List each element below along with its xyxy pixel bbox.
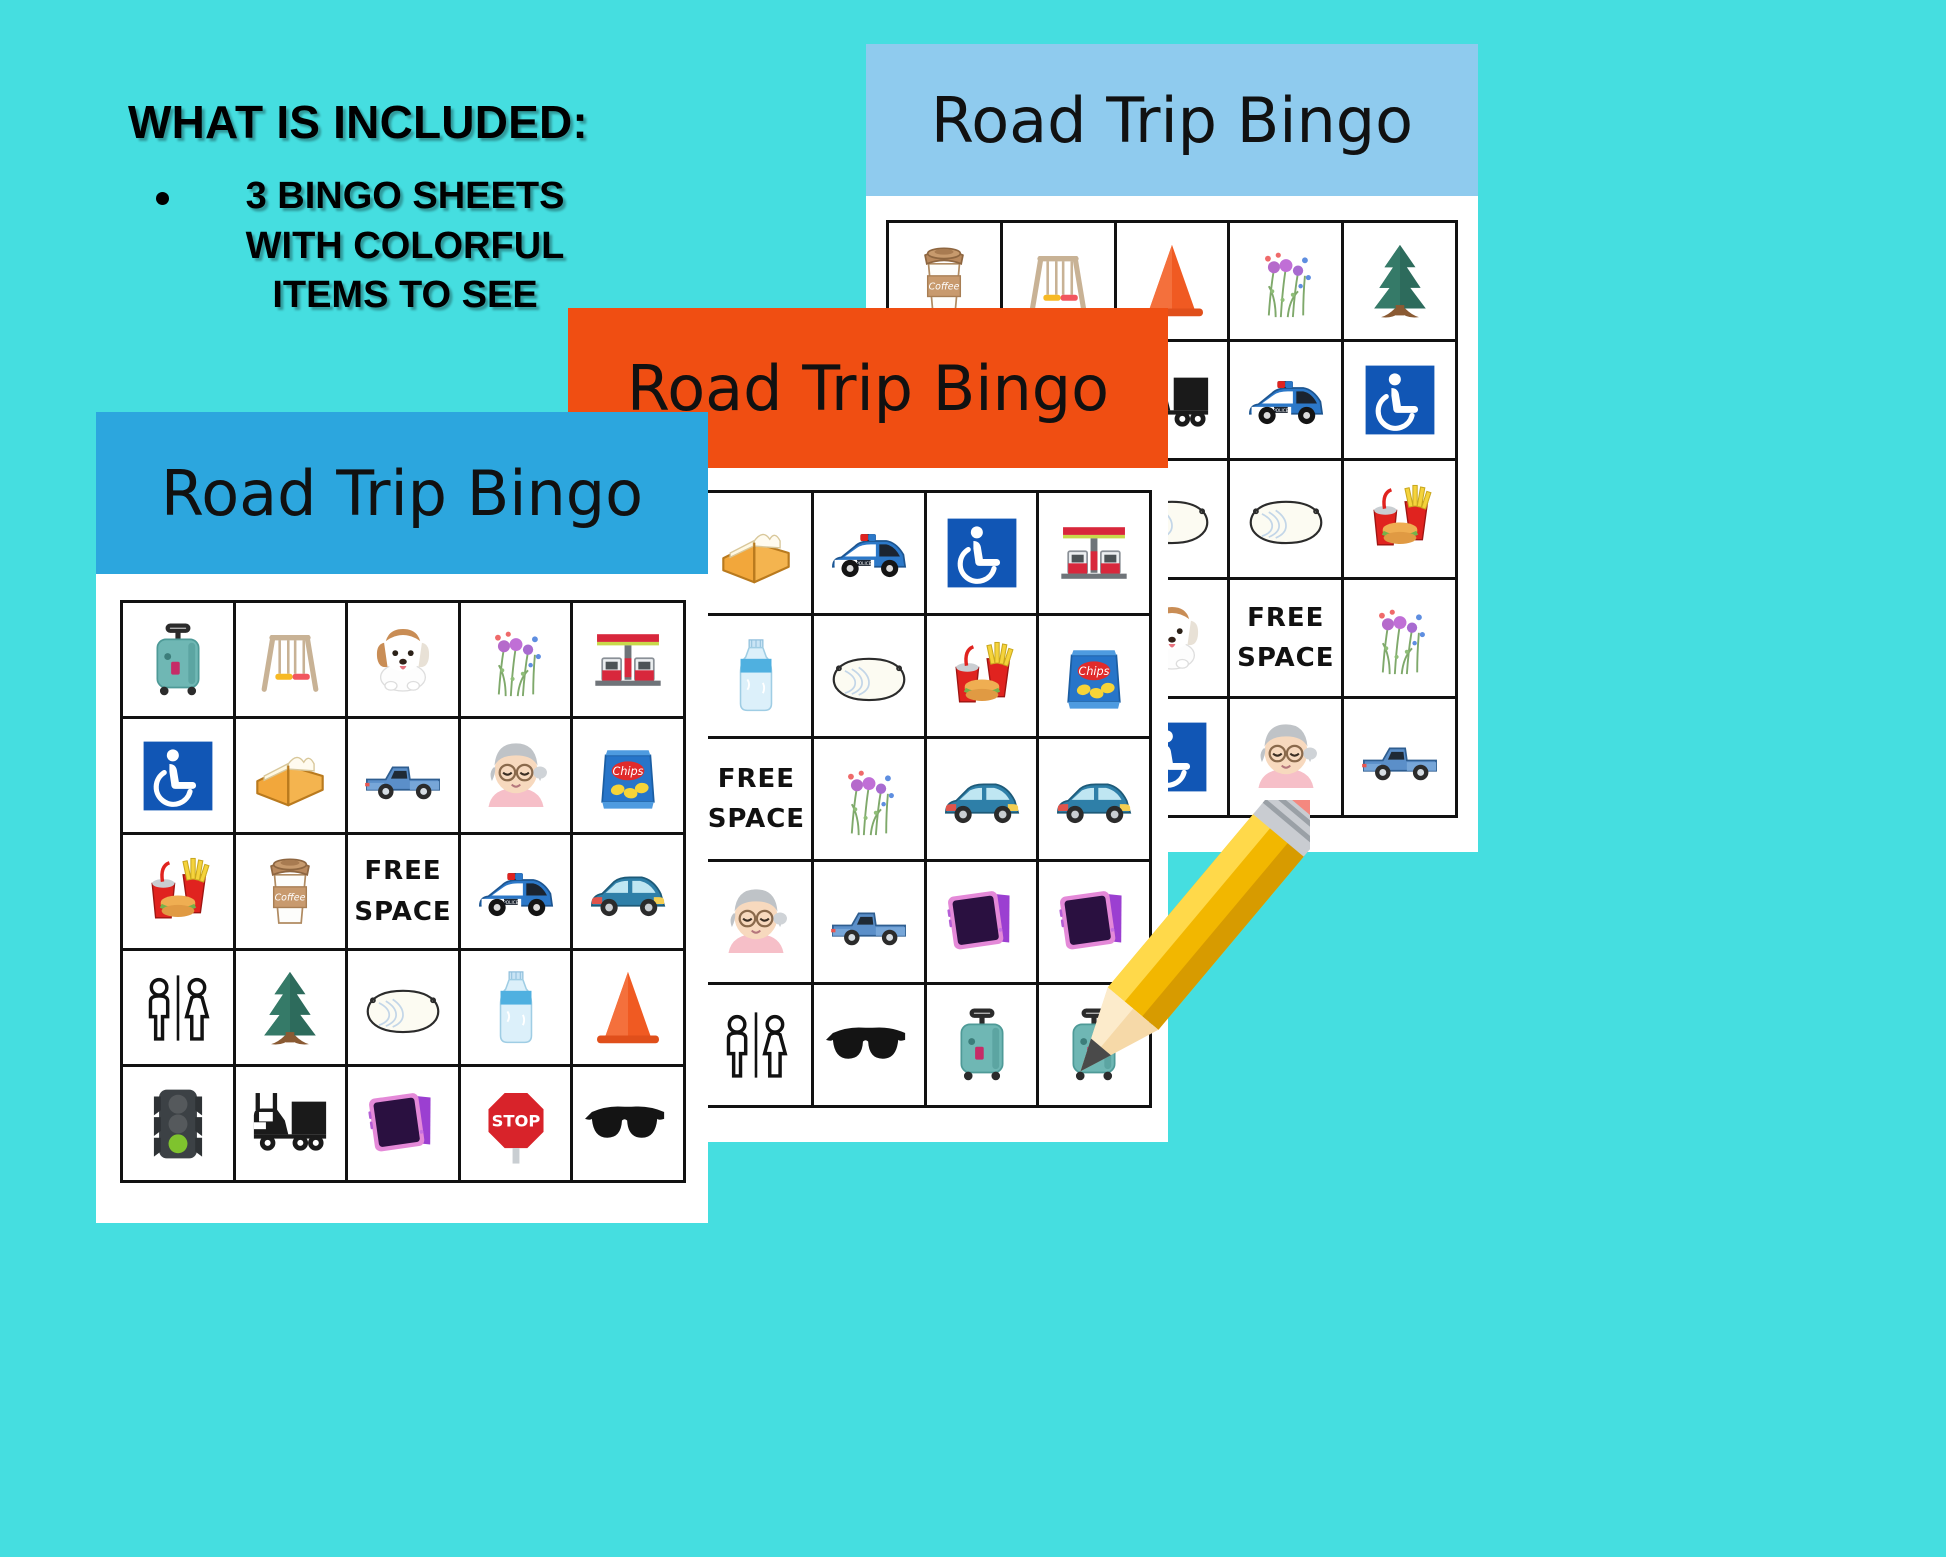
bingo-cell-pillow[interactable] [348, 951, 461, 1067]
pickup-truck-icon [360, 733, 446, 819]
poster-canvas: WHAT IS INCLUDED: 3 BINGO SHEETS WITH CO… [0, 0, 1946, 1557]
police-car-icon: POLICE [826, 510, 912, 596]
promo-bullet-line-3: ITEMS TO SEE [272, 274, 537, 316]
bingo-cell-free-space[interactable]: FREESPACE [702, 739, 815, 862]
bingo-cell-free-space[interactable]: FREESPACE [1230, 580, 1344, 699]
bingo-cell-puppy[interactable] [348, 603, 461, 719]
card-grid-wrap: Chips Coffee FREESPACE POLICE [96, 574, 708, 1223]
bingo-cell-water-bottle[interactable] [702, 616, 815, 739]
svg-text:Coffee: Coffee [275, 892, 306, 903]
bingo-cell-free-space[interactable]: FREESPACE [348, 835, 461, 951]
wheelchair-sign-icon [1357, 357, 1443, 443]
bingo-cell-gas-station[interactable] [573, 603, 686, 719]
bingo-cell-fast-food[interactable] [123, 835, 236, 951]
tablet-icon [360, 1081, 446, 1167]
traffic-cone-icon [585, 965, 671, 1051]
bingo-cell-chips-bag[interactable]: Chips [1039, 616, 1152, 739]
bingo-cell-wildflowers[interactable] [1230, 223, 1344, 342]
wheelchair-sign-icon [135, 733, 221, 819]
bingo-cell-wildflowers[interactable] [461, 603, 574, 719]
grandma-icon [713, 879, 799, 965]
bingo-cell-police-car[interactable]: POLICE [814, 493, 927, 616]
card-banner: Road Trip Bingo [96, 412, 708, 574]
bingo-cell-tablet[interactable] [348, 1067, 461, 1183]
bingo-cell-pickup-truck[interactable] [1344, 699, 1458, 818]
bingo-cell-gas-station[interactable] [1039, 493, 1152, 616]
pillow-icon [360, 965, 446, 1051]
bingo-cell-pine-tree[interactable] [1344, 223, 1458, 342]
fast-food-icon [135, 849, 221, 935]
bingo-cell-traffic-light[interactable] [123, 1067, 236, 1183]
card-title: Road Trip Bingo [931, 84, 1413, 157]
bingo-cell-pickup-truck[interactable] [348, 719, 461, 835]
bingo-cell-police-car[interactable]: POLICE [461, 835, 574, 951]
svg-text:POLICE: POLICE [856, 561, 872, 567]
bingo-cell-pickup-truck[interactable] [814, 862, 927, 985]
fast-food-icon [1357, 476, 1443, 562]
stop-sign-icon: STOP [473, 1081, 559, 1167]
svg-text:Chips: Chips [613, 765, 644, 778]
sedan-car-icon [585, 849, 671, 935]
bingo-cell-open-book[interactable] [236, 719, 349, 835]
svg-text:Coffee: Coffee [929, 282, 960, 293]
open-book-icon [713, 510, 799, 596]
sedan-car-icon [939, 756, 1025, 842]
bingo-card-front: Road Trip Bingo [96, 412, 708, 1223]
bingo-cell-suitcase[interactable] [1039, 985, 1152, 1108]
grandma-icon [1243, 714, 1329, 800]
card-banner: Road Trip Bingo [866, 44, 1478, 196]
bingo-cell-sedan-car[interactable] [927, 739, 1040, 862]
bingo-cell-pillow[interactable] [1230, 461, 1344, 580]
sunglasses-icon [826, 1002, 912, 1088]
pickup-truck-icon [826, 879, 912, 965]
chips-bag-icon: Chips [1051, 633, 1137, 719]
wildflowers-icon [1243, 238, 1329, 324]
tablet-icon [939, 879, 1025, 965]
bingo-cell-wheelchair-sign[interactable] [123, 719, 236, 835]
bingo-cell-stop-sign[interactable]: STOP [461, 1067, 574, 1183]
grandma-icon [473, 733, 559, 819]
bingo-cell-wildflowers[interactable] [1344, 580, 1458, 699]
wildflowers-icon [473, 617, 559, 703]
sunglasses-icon [585, 1081, 671, 1167]
tablet-icon [1051, 879, 1137, 965]
pillow-icon [826, 633, 912, 719]
bingo-cell-coffee-cup[interactable]: Coffee [236, 835, 349, 951]
promo-bullet-list: 3 BINGO SHEETS WITH COLORFUL ITEMS TO SE… [128, 172, 768, 320]
open-book-icon [247, 733, 333, 819]
free-space-label: FREESPACE [354, 851, 451, 932]
bingo-cell-fast-food[interactable] [1344, 461, 1458, 580]
bingo-cell-sunglasses[interactable] [814, 985, 927, 1108]
bingo-cell-sunglasses[interactable] [573, 1067, 686, 1183]
bingo-cell-tablet[interactable] [1039, 862, 1152, 985]
bingo-cell-restroom-sign[interactable] [702, 985, 815, 1108]
pine-tree-icon [247, 965, 333, 1051]
bingo-cell-water-bottle[interactable] [461, 951, 574, 1067]
pillow-icon [1243, 476, 1329, 562]
bingo-cell-semi-truck[interactable] [236, 1067, 349, 1183]
puppy-icon [360, 617, 446, 703]
card-title: Road Trip Bingo [161, 457, 643, 530]
promo-bullet-line-2: WITH COLORFUL [246, 225, 565, 267]
bingo-cell-wildflowers[interactable] [814, 739, 927, 862]
promo-text-block: WHAT IS INCLUDED: 3 BINGO SHEETS WITH CO… [128, 98, 768, 320]
bingo-cell-pillow[interactable] [814, 616, 927, 739]
promo-heading: WHAT IS INCLUDED: [128, 98, 768, 146]
bingo-cell-tablet[interactable] [927, 862, 1040, 985]
pine-tree-icon [1357, 238, 1443, 324]
wildflowers-icon [1357, 595, 1443, 681]
coffee-cup-icon: Coffee [247, 849, 333, 935]
bingo-cell-grandma[interactable] [1230, 699, 1344, 818]
bingo-cell-chips-bag[interactable]: Chips [573, 719, 686, 835]
gas-station-icon [1051, 510, 1137, 596]
bingo-cell-grandma[interactable] [461, 719, 574, 835]
bingo-cell-traffic-cone[interactable] [573, 951, 686, 1067]
police-car-icon: POLICE [473, 849, 559, 935]
restroom-sign-icon [713, 1002, 799, 1088]
water-bottle-icon [473, 965, 559, 1051]
fast-food-icon [939, 633, 1025, 719]
suitcase-icon [939, 1002, 1025, 1088]
svg-text:POLICE: POLICE [1273, 408, 1289, 414]
sedan-car-icon [1051, 756, 1137, 842]
water-bottle-icon [713, 633, 799, 719]
bingo-cell-open-book[interactable] [702, 493, 815, 616]
bingo-cell-suitcase[interactable] [123, 603, 236, 719]
bingo-cell-wheelchair-sign[interactable] [927, 493, 1040, 616]
bingo-cell-grandma[interactable] [702, 862, 815, 985]
bingo-cell-police-car[interactable]: POLICE [1230, 342, 1344, 461]
semi-truck-icon [247, 1081, 333, 1167]
pickup-truck-icon [1357, 714, 1443, 800]
promo-bullet-line-1: 3 BINGO SHEETS [246, 175, 565, 217]
free-space-label: FREESPACE [1237, 598, 1334, 679]
bingo-cell-restroom-sign[interactable] [123, 951, 236, 1067]
wildflowers-icon [826, 756, 912, 842]
bingo-cell-suitcase[interactable] [927, 985, 1040, 1108]
svg-text:POLICE: POLICE [503, 900, 519, 906]
suitcase-icon [1051, 1002, 1137, 1088]
bingo-grid: Chips Coffee FREESPACE POLICE [120, 600, 686, 1183]
bingo-cell-sedan-car[interactable] [1039, 739, 1152, 862]
svg-text:Chips: Chips [1079, 665, 1110, 678]
chips-bag-icon: Chips [585, 733, 671, 819]
bingo-cell-fast-food[interactable] [927, 616, 1040, 739]
promo-bullet-item: 3 BINGO SHEETS WITH COLORFUL ITEMS TO SE… [128, 172, 620, 320]
free-space-label: FREESPACE [708, 759, 805, 840]
bingo-cell-pine-tree[interactable] [236, 951, 349, 1067]
restroom-sign-icon [135, 965, 221, 1051]
wheelchair-sign-icon [939, 510, 1025, 596]
suitcase-icon [135, 617, 221, 703]
gas-station-icon [585, 617, 671, 703]
traffic-light-icon [135, 1081, 221, 1167]
bullet-dot-icon [156, 192, 169, 205]
bingo-cell-wheelchair-sign[interactable] [1344, 342, 1458, 461]
bingo-cell-sedan-car[interactable] [573, 835, 686, 951]
svg-text:STOP: STOP [491, 1111, 540, 1130]
swing-set-icon [247, 617, 333, 703]
police-car-icon: POLICE [1243, 357, 1329, 443]
bingo-cell-swing-set[interactable] [236, 603, 349, 719]
